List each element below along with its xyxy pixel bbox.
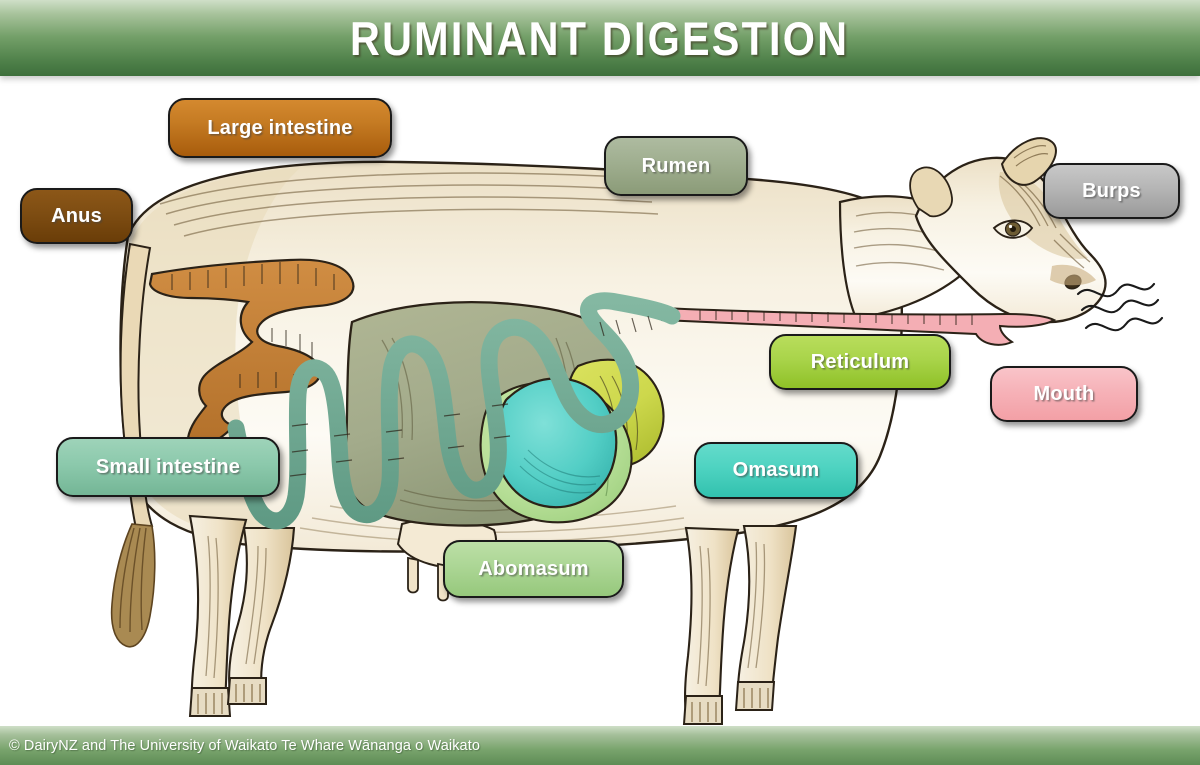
cow-hoof-1 <box>190 688 230 716</box>
label-rumen[interactable]: Rumen <box>604 136 748 196</box>
label-small-intestine[interactable]: Small intestine <box>56 437 280 497</box>
cow-leg-front-far <box>685 528 738 724</box>
copyright-credit: © DairyNZ and The University of Waikato … <box>0 738 480 754</box>
page-footer: © DairyNZ and The University of Waikato … <box>0 726 1200 765</box>
diagram-page: RUMINANT DIGESTION <box>0 0 1200 765</box>
label-anus[interactable]: Anus <box>20 188 133 244</box>
page-title: RUMINANT DIGESTION <box>350 11 849 66</box>
label-reticulum[interactable]: Reticulum <box>769 334 951 390</box>
hoof-hatching <box>198 684 768 722</box>
label-burps[interactable]: Burps <box>1043 163 1180 219</box>
label-omasum[interactable]: Omasum <box>694 442 858 499</box>
cow-teat-1 <box>408 558 418 593</box>
organ-omasum <box>496 378 616 507</box>
label-mouth[interactable]: Mouth <box>990 366 1138 422</box>
label-large-intestine[interactable]: Large intestine <box>168 98 392 158</box>
label-abomasum[interactable]: Abomasum <box>443 540 624 598</box>
cow-tail-tuft <box>112 524 155 647</box>
page-header: RUMINANT DIGESTION <box>0 0 1200 76</box>
